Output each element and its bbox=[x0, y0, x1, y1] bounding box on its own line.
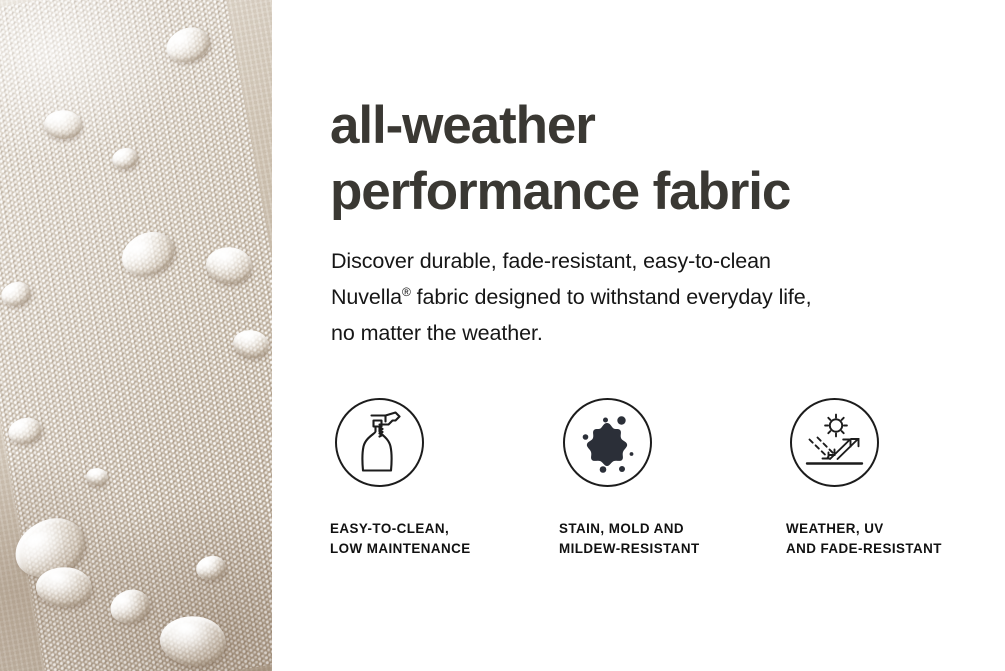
all-weather-fabric-banner: all-weather performance fabric Discover … bbox=[0, 0, 1005, 671]
feature-weather-resistant: WEATHER, UV AND FADE-RESISTANT bbox=[785, 398, 1005, 559]
subcopy-line-3: no matter the weather. bbox=[331, 321, 543, 345]
brand-name: Nuvella bbox=[331, 285, 402, 309]
fabric-photo bbox=[0, 0, 272, 671]
feature-stain-resistant: STAIN, MOLD AND MILDEW-RESISTANT bbox=[558, 398, 785, 559]
page-title: all-weather performance fabric bbox=[330, 93, 980, 225]
feature-caption: WEATHER, UV AND FADE-RESISTANT bbox=[786, 519, 1005, 559]
subcopy: Discover durable, fade-resistant, easy-t… bbox=[331, 243, 971, 351]
feature-easy-to-clean: EASY-TO-CLEAN, LOW MAINTENANCE bbox=[330, 398, 558, 559]
feature-list: EASY-TO-CLEAN, LOW MAINTENANCE bbox=[330, 398, 990, 559]
subcopy-line-2: fabric designed to withstand everyday li… bbox=[411, 285, 812, 309]
content-panel: all-weather performance fabric Discover … bbox=[272, 0, 1005, 671]
feature-icon-badge bbox=[563, 398, 652, 487]
feature-caption: STAIN, MOLD AND MILDEW-RESISTANT bbox=[559, 519, 785, 559]
feature-icon-badge bbox=[790, 398, 879, 487]
subcopy-line-1: Discover durable, fade-resistant, easy-t… bbox=[331, 249, 771, 273]
registered-trademark-symbol: ® bbox=[402, 285, 411, 299]
feature-icon-badge bbox=[335, 398, 424, 487]
sun-reflect-icon bbox=[803, 412, 867, 474]
spray-bottle-icon bbox=[351, 410, 409, 476]
stain-splat-icon bbox=[577, 412, 639, 474]
feature-caption: EASY-TO-CLEAN, LOW MAINTENANCE bbox=[330, 519, 558, 559]
